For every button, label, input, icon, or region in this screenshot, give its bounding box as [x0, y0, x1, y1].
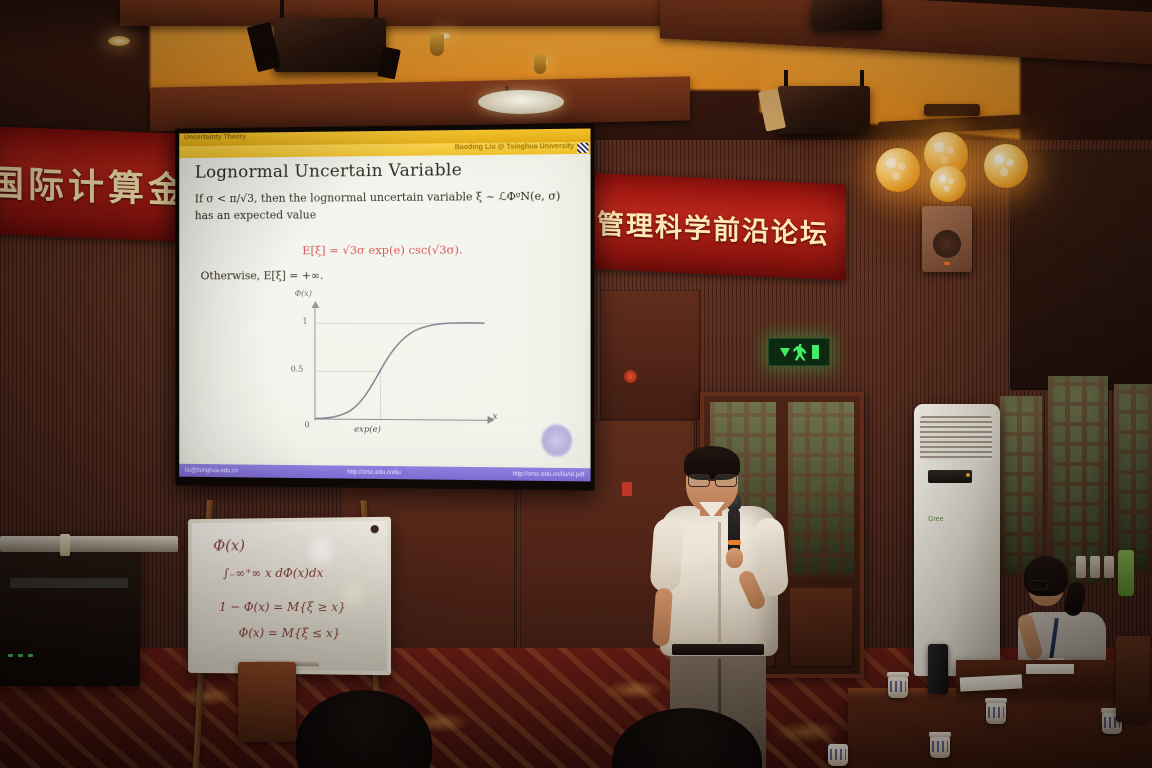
slide-equation: E[ξ] = √3σ exp(e) csc(√3σ).: [179, 242, 590, 258]
attendee-glasses: [1030, 580, 1048, 590]
speaker-led-icon: [944, 262, 950, 265]
exit-arrow-icon: [780, 348, 790, 357]
running-man-icon: [793, 344, 809, 361]
eyeglasses-bridge: [708, 479, 715, 481]
teacup-lid: [887, 672, 909, 677]
carved-window-mid: [1000, 396, 1042, 576]
lecture-hall-photo: 国际计算金融 院管理科学前沿论坛 Uncertainty Theory Baod…: [0, 0, 1152, 768]
rack-led-icon: [8, 654, 13, 657]
audience-chair: [238, 662, 296, 742]
whiteboard[interactable]: Φ(x) ∫₋∞⁺∞ x dΦ(x)dx 1 − Φ(x) = M{ξ ≥ x}…: [188, 517, 391, 675]
eyeglasses-left-lens: [688, 474, 710, 487]
carved-window-right: [1048, 376, 1108, 586]
wall-speaker: [922, 206, 972, 272]
slide-body-text: If σ < π/√3, then the lognormal uncertai…: [195, 187, 572, 224]
ac-vent-grille: [920, 416, 992, 460]
slide-watermark-logo: [541, 424, 572, 457]
teacup: [828, 744, 848, 766]
ceiling-dome-light: [478, 90, 564, 114]
air-conditioner[interactable]: Gree: [914, 404, 1000, 676]
projection-screen: Uncertainty Theory Baoding Liu @ Tsinghu…: [175, 123, 594, 490]
teacup-lid: [929, 732, 951, 737]
distribution-chart: Φ(x) 1 0.5 0 exp(e) x: [285, 301, 511, 454]
water-bottle: [1090, 556, 1100, 578]
whiteboard-glare: [304, 530, 338, 570]
teacup: [888, 676, 908, 698]
slide-header-title: Uncertainty Theory: [184, 134, 246, 142]
projector-unit: [812, 0, 882, 30]
slide-footer-bar: liu@tsinghua.edu.cn http://orsc.edu.cn/l…: [179, 464, 590, 482]
presentation-slide: Uncertainty Theory Baoding Liu @ Tsinghu…: [179, 129, 590, 482]
presenter-hand: [726, 548, 743, 568]
lamp-globe: [984, 144, 1028, 188]
whiteboard-line-4: Φ(x) = M{ξ ≤ x}: [239, 626, 341, 641]
ceiling-tassel: [430, 34, 444, 56]
fire-alarm-icon: [624, 370, 637, 383]
rack-cup: [60, 534, 70, 556]
microphone-band: [728, 540, 741, 545]
rack-device-slot: [10, 578, 128, 588]
chart-curve: [285, 301, 511, 442]
whiteboard-glare-2: [339, 578, 367, 612]
water-bottle: [1104, 556, 1114, 578]
teacup-lid: [985, 698, 1007, 703]
slide-otherwise-text: Otherwise, E[ξ] = +∞.: [201, 269, 324, 282]
attendee-hair: [1024, 556, 1068, 596]
whiteboard-line-3: 1 − Φ(x) = M{ξ ≥ x}: [219, 600, 346, 614]
av-equipment-rack: [0, 536, 140, 686]
ceiling-downlight: [108, 36, 130, 46]
fire-alarm-panel: [622, 482, 632, 496]
banner-right: 院管理科学前沿论坛: [560, 172, 846, 281]
carved-window-far-right: [1114, 384, 1152, 574]
eyeglasses-right-lens: [715, 474, 737, 487]
exit-door-icon: [812, 345, 819, 359]
whiteboard-magnet-icon: [371, 525, 379, 533]
wall-panel: [600, 290, 700, 420]
rack-led-icon: [28, 654, 33, 657]
teacup: [986, 702, 1006, 724]
lamp-globe: [930, 166, 966, 202]
green-bottle: [1118, 550, 1134, 596]
footer-url-home: http://orsc.edu.cn/liu: [347, 469, 401, 476]
chair: [1116, 636, 1150, 722]
whiteboard-line-1: Φ(x): [213, 536, 245, 554]
lamp-globe: [876, 148, 920, 192]
university-logo-icon: [577, 143, 588, 153]
banner-right-text: 院管理科学前沿论坛: [568, 200, 829, 251]
banner-left: 国际计算金融: [0, 126, 180, 241]
ceiling-tassel: [534, 54, 546, 74]
thermos-flask: [928, 644, 948, 694]
chart-ylabel: Φ(x): [295, 289, 312, 298]
stage-spotlight: [778, 86, 870, 134]
ac-power-led-icon: [966, 473, 970, 477]
rack-led-icon: [18, 654, 23, 657]
water-bottle: [1076, 556, 1086, 578]
paper-sheet: [1026, 664, 1074, 674]
presenter-shirt-placket: [718, 522, 721, 642]
rack-top-surface: [0, 536, 178, 552]
banner-left-text: 国际计算金融: [0, 154, 180, 215]
slide-title: Lognormal Uncertain Variable: [195, 160, 462, 182]
ac-display-panel: [928, 470, 972, 483]
presenter-collar: [699, 502, 725, 518]
chandelier: [868, 104, 1048, 194]
presenter-belt: [672, 644, 764, 655]
speaker-cone-icon: [933, 230, 961, 258]
emergency-exit-sign: [768, 338, 830, 366]
footer-email: liu@tsinghua.edu.cn: [185, 467, 238, 474]
presenter-left-sleeve: [649, 517, 684, 593]
teacup: [930, 736, 950, 758]
slide-author-text: Baoding Liu @ Tsinghua University: [455, 143, 574, 151]
stage-spotlight: [274, 18, 386, 72]
ac-brand-label: Gree: [928, 516, 944, 523]
footer-url-pdf: http://orsc.edu.cn/liu/ut.pdf: [513, 471, 585, 478]
